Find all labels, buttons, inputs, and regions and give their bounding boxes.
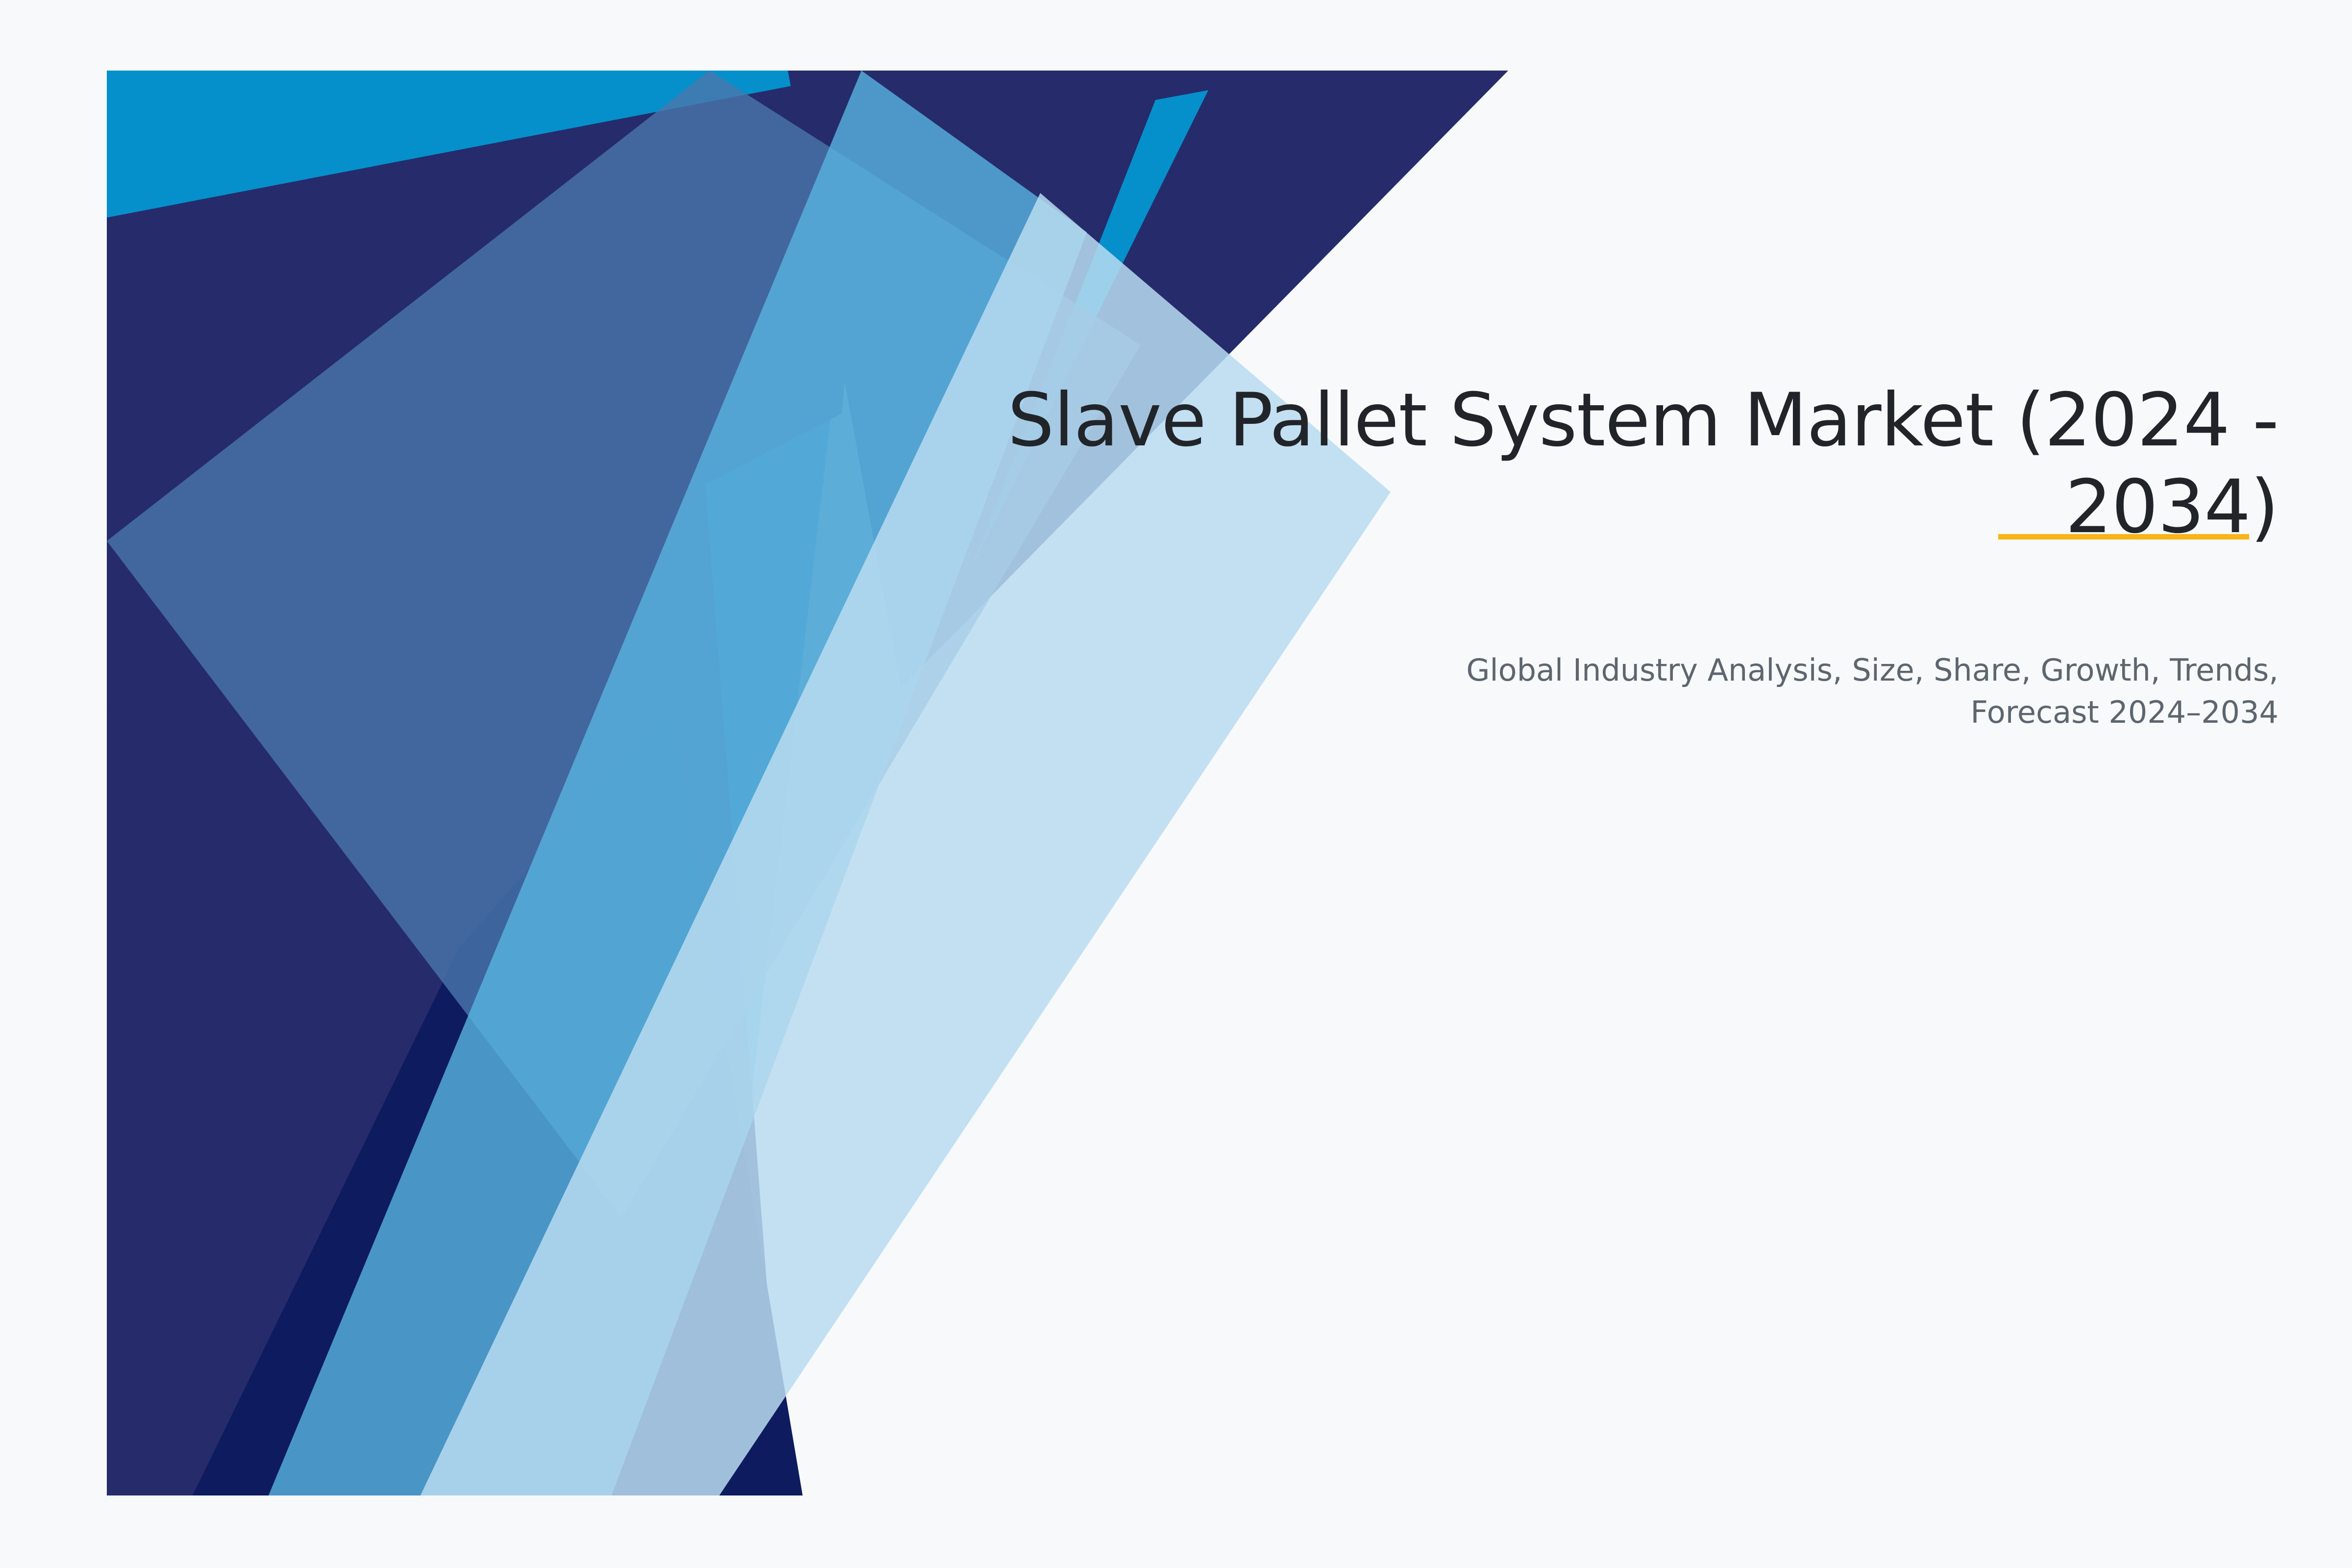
cover-slide: Slave Pallet System Market (2024 - 2034)… xyxy=(0,0,2352,1568)
page-title: Slave Pallet System Market (2024 - 2034) xyxy=(911,377,2278,551)
cover-artwork xyxy=(107,71,1508,1495)
title-block: Slave Pallet System Market (2024 - 2034) xyxy=(911,377,2278,551)
title-accent-underline xyxy=(1998,534,2249,539)
page-subtitle: Global Industry Analysis, Size, Share, G… xyxy=(1396,649,2278,733)
geometric-artwork-svg xyxy=(107,71,1508,1495)
